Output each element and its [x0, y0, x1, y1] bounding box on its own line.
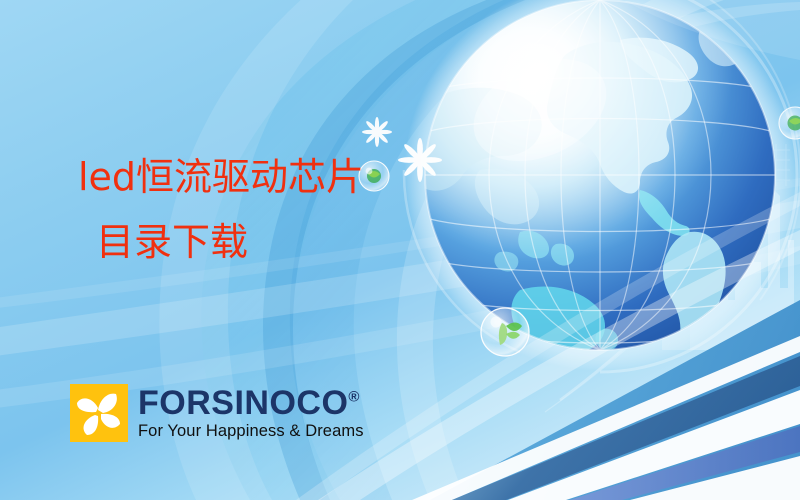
- flower-asterisk-small: [362, 117, 392, 147]
- headline-line-1: led恒流驱动芯片: [78, 158, 498, 197]
- brand-text: FORSINOCO: [138, 384, 348, 422]
- registered-trademark-icon: ®: [348, 389, 359, 406]
- brand-tagline: For Your Happiness & Dreams: [138, 423, 364, 440]
- four-petal-pinwheel-icon: [70, 384, 128, 442]
- headline-line-2: 目录下载: [96, 223, 498, 262]
- brand-name: FORSINOCO®: [138, 386, 364, 420]
- slide-canvas: led恒流驱动芯片 目录下载 FORSINOCO® For Your Happi…: [0, 0, 800, 500]
- headline-block: led恒流驱动芯片 目录下载: [78, 158, 498, 262]
- company-logo: FORSINOCO® For Your Happiness & Dreams: [70, 384, 364, 442]
- logo-wordmark: FORSINOCO® For Your Happiness & Dreams: [138, 384, 364, 440]
- pinwheel-petals: [70, 384, 128, 442]
